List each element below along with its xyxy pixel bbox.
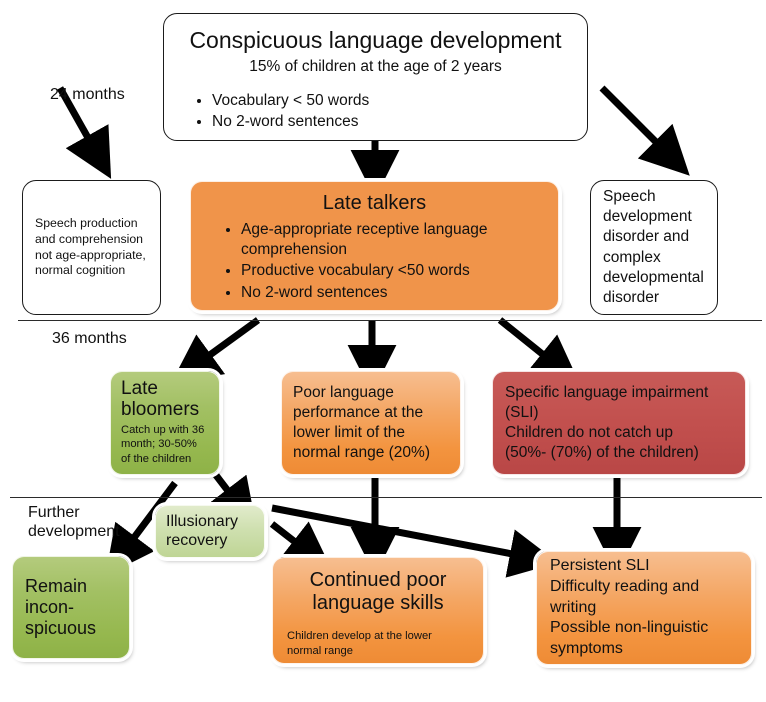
arrow-illusionary-to-persistent (272, 508, 528, 557)
list-item: No 2-word sentences (212, 112, 573, 132)
arrow-root-to-right (602, 88, 668, 154)
label-24-months: 24 months (50, 86, 125, 105)
node-continued-poor-language-skills[interactable]: Continued poor language skills Children … (272, 557, 484, 664)
node-speech-development-disorder[interactable]: Speech development disorder and complex … (590, 180, 718, 315)
flowchart-canvas: 24 months 36 months Further development … (0, 0, 766, 702)
node-remain-inconspicuous[interactable]: Remain incon-spicuous (12, 556, 130, 659)
node-poor-language-performance[interactable]: Poor language performance at the lower l… (281, 371, 461, 475)
poor-language-text: Poor language performance at the lower l… (293, 383, 449, 464)
label-further-development: Further development (28, 504, 120, 542)
late-bloomers-detail: Catch up with 36 month; 30-50% of the ch… (121, 423, 209, 467)
node-illusionary-recovery[interactable]: Illusionary recovery (155, 505, 265, 558)
list-item: No 2-word sentences (241, 283, 548, 303)
node-late-talkers[interactable]: Late talkers Age-appropriate receptive l… (190, 181, 559, 311)
root-bullet-list: Vocabulary < 50 words No 2-word sentence… (178, 90, 573, 133)
divider-36-months (18, 320, 762, 321)
right-branch-text: Speech development disorder and complex … (603, 187, 705, 308)
label-36-months: 36 months (52, 330, 127, 349)
left-branch-text: Speech production and comprehension not … (35, 216, 148, 279)
node-persistent-sli[interactable]: Persistent SLI Difficulty reading and wr… (536, 551, 752, 665)
late-talkers-bullet-list: Age-appropriate receptive language compr… (201, 219, 548, 304)
root-subtitle: 15% of children at the age of 2 years (178, 57, 573, 77)
divider-further-development (10, 497, 762, 498)
sli-text: Specific language impairment (SLI) Child… (505, 383, 733, 464)
continued-title: Continued poor language skills (287, 569, 469, 615)
arrow-lt-to-sli (500, 320, 556, 365)
node-conspicuous-language-development[interactable]: Conspicuous language development 15% of … (163, 13, 588, 141)
list-item: Productive vocabulary <50 words (241, 261, 548, 281)
node-speech-production-comprehension[interactable]: Speech production and comprehension not … (22, 180, 161, 315)
arrow-illusionary-to-continued (272, 524, 308, 552)
persistent-sli-text: Persistent SLI Difficulty reading and wr… (550, 556, 738, 660)
arrow-bloomers-to-illusionary (212, 470, 238, 504)
late-talkers-title: Late talkers (201, 192, 548, 215)
illusionary-recovery-text: Illusionary recovery (166, 513, 254, 551)
list-item: Age-appropriate receptive language compr… (241, 220, 548, 260)
list-item: Vocabulary < 50 words (212, 91, 573, 111)
root-title: Conspicuous language development (178, 28, 573, 54)
arrow-lt-to-late-bloomers (196, 320, 258, 365)
node-late-bloomers[interactable]: Late bloomers Catch up with 36 month; 30… (110, 371, 220, 475)
continued-detail: Children develop at the lower normal ran… (287, 629, 469, 658)
node-specific-language-impairment[interactable]: Specific language impairment (SLI) Child… (492, 371, 746, 475)
remain-inconspicuous-text: Remain incon-spicuous (25, 576, 117, 640)
late-bloomers-title: Late bloomers (121, 378, 209, 421)
